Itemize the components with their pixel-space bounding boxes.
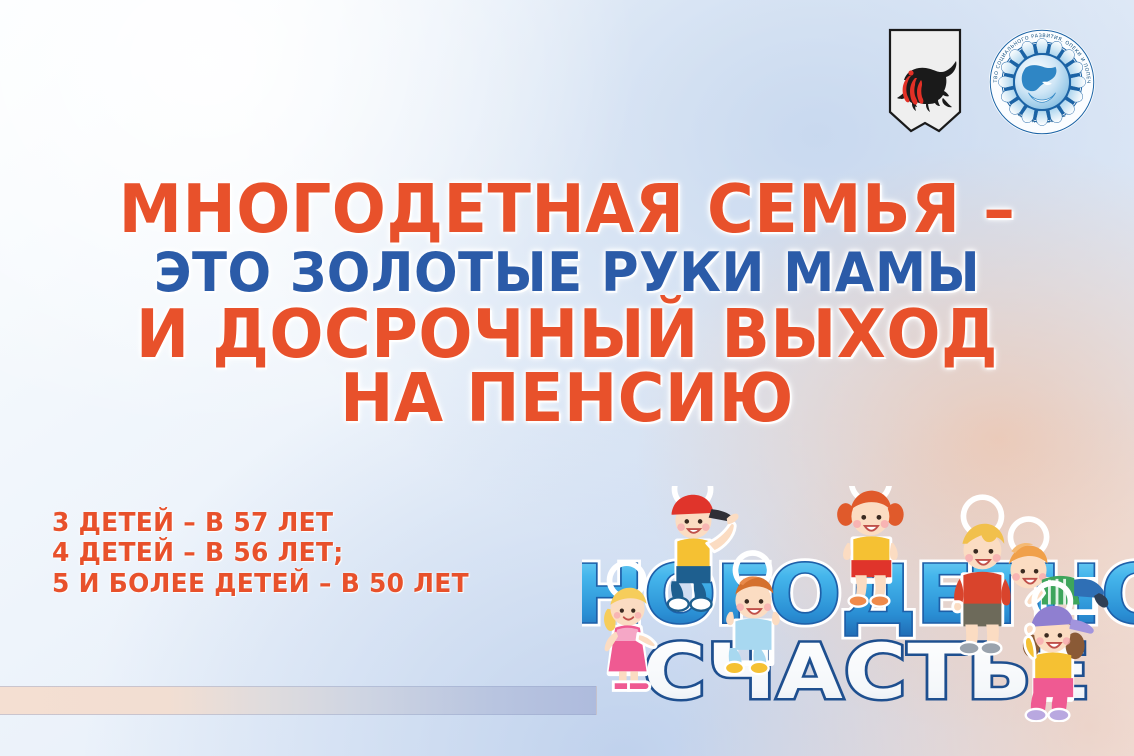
irkutsk-coat-of-arms-icon: [888, 28, 962, 138]
ministry-seal-icon: МИНИСТЕРСТВО СОЦИАЛЬНОГО РАЗВИТИЯ, ОПЕКИ…: [988, 28, 1096, 136]
headline-line-2: ЭТО ЗОЛОТЫЕ РУКИ МАМЫ: [28, 248, 1105, 298]
decorative-gradient-bar: [0, 686, 597, 715]
headline-line-4: НА ПЕНСИЮ: [28, 367, 1105, 429]
logo-artwork: МНОГОДЕТНОЕ МНОГОДЕТНОЕ СЧАСТЬЕ: [582, 486, 1134, 722]
headline-line-3: И ДОСРОЧНЫЙ ВЫХОД: [28, 303, 1105, 365]
benefit-item-3-children: 3 ДЕТЕЙ – В 57 ЛЕТ: [52, 508, 469, 538]
benefits-list: 3 ДЕТЕЙ – В 57 ЛЕТ 4 ДЕТЕЙ – В 56 ЛЕТ; 5…: [52, 508, 486, 599]
benefit-item-4-children: 4 ДЕТЕЙ – В 56 ЛЕТ;: [52, 538, 469, 568]
emblem-row: МИНИСТЕРСТВО СОЦИАЛЬНОГО РАЗВИТИЯ, ОПЕКИ…: [888, 28, 1096, 138]
poster-canvas: МИНИСТЕРСТВО СОЦИАЛЬНОГО РАЗВИТИЯ, ОПЕКИ…: [0, 0, 1134, 756]
headline-line-1: МНОГОДЕТНАЯ СЕМЬЯ –: [28, 178, 1105, 240]
mnogodetnoe-schastye-logo: МНОГОДЕТНОЕ МНОГОДЕТНОЕ СЧАСТЬЕ: [582, 486, 1134, 722]
benefit-item-5-children: 5 И БОЛЕЕ ДЕТЕЙ – В 50 ЛЕТ: [52, 569, 469, 599]
page-title: МНОГОДЕТНАЯ СЕМЬЯ – ЭТО ЗОЛОТЫЕ РУКИ МАМ…: [0, 178, 1134, 429]
